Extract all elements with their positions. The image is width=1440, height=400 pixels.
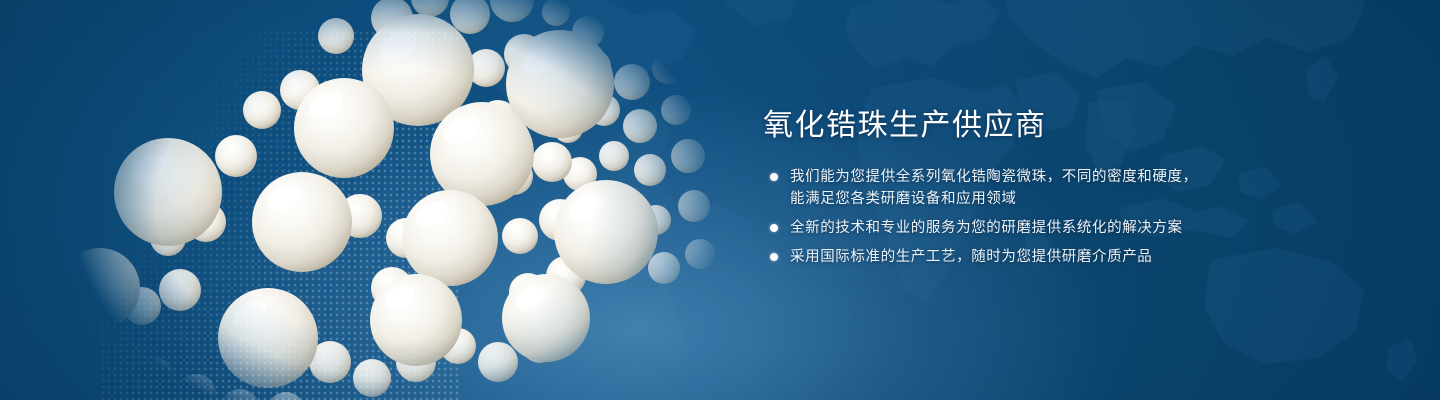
bullet-dot-icon — [770, 253, 778, 261]
list-item-line-1: 我们能为您提供全系列氧化锆陶瓷微珠，不同的密度和硬度， — [790, 169, 1198, 185]
list-item-line-2: 能满足您各类研磨设备和应用领域 — [790, 188, 1363, 210]
bullet-dot-icon — [770, 224, 778, 232]
list-item-line-1: 全新的技术和专业的服务为您的研磨提供系统化的解决方案 — [790, 220, 1183, 236]
feature-list: 我们能为您提供全系列氧化锆陶瓷微珠，不同的密度和硬度， 能满足您各类研磨设备和应… — [763, 166, 1363, 268]
page-title: 氧化锆珠生产供应商 — [763, 106, 1363, 146]
list-item: 我们能为您提供全系列氧化锆陶瓷微珠，不同的密度和硬度， 能满足您各类研磨设备和应… — [763, 166, 1363, 210]
hero-text-block: 氧化锆珠生产供应商 我们能为您提供全系列氧化锆陶瓷微珠，不同的密度和硬度， 能满… — [763, 106, 1363, 268]
list-item-line-1: 采用国际标准的生产工艺，随时为您提供研磨介质产品 — [790, 249, 1152, 265]
zirconia-bead-cluster-image: circle { fill: url(#beadG); } — [0, 0, 720, 400]
hero-banner: circle { fill: url(#beadG); } 氧化锆珠生产供应商 — [0, 0, 1440, 400]
list-item: 全新的技术和专业的服务为您的研磨提供系统化的解决方案 — [763, 217, 1363, 239]
bullet-dot-icon — [770, 173, 778, 181]
list-item: 采用国际标准的生产工艺，随时为您提供研磨介质产品 — [763, 246, 1363, 268]
